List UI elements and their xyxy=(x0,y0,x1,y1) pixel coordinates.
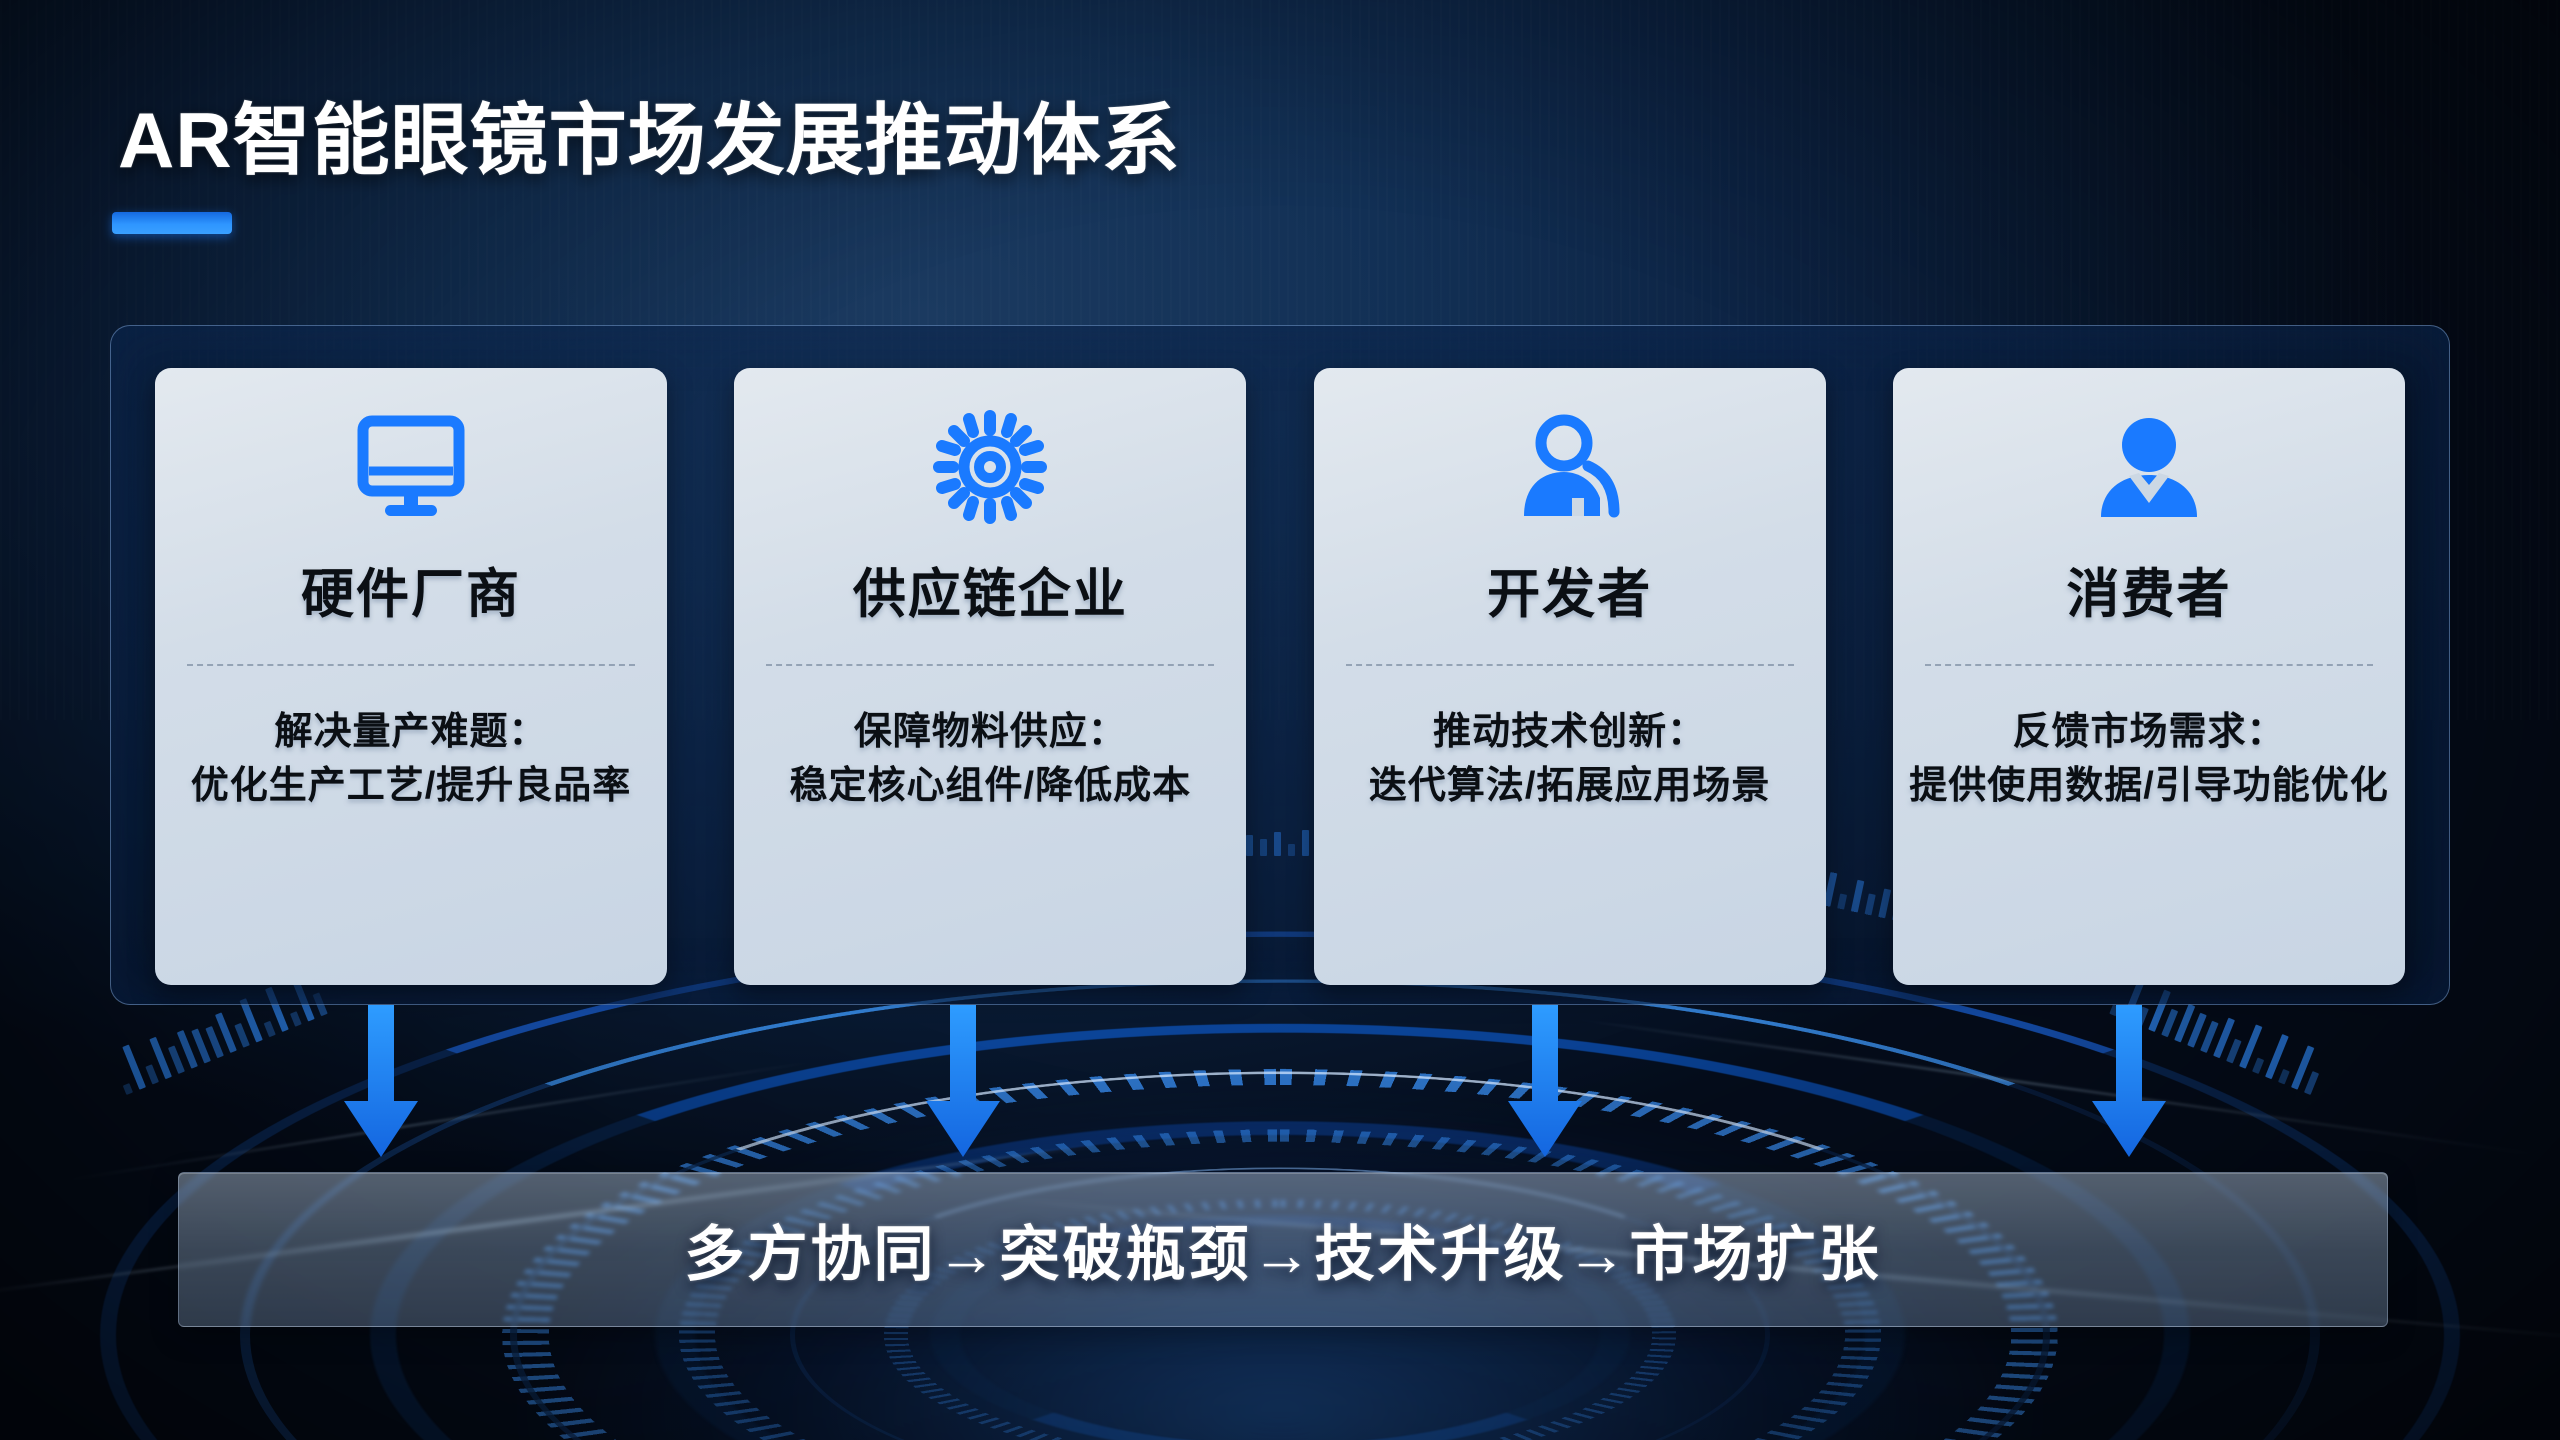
arrow-group xyxy=(155,1005,2405,1160)
card-description: 解决量产难题： 优化生产工艺/提升良品率 xyxy=(191,706,632,814)
card-desc-line2: 提供使用数据/引导功能优化 xyxy=(1909,760,2389,814)
card-consumer[interactable]: 消费者 反馈市场需求： 提供使用数据/引导功能优化 xyxy=(1893,368,2405,985)
card-developer[interactable]: 开发者 推动技术创新： 迭代算法/拓展应用场景 xyxy=(1314,368,1826,985)
page-title: AR智能眼镜市场发展推动体系 xyxy=(118,78,1181,190)
card-title: 硬件厂商 xyxy=(301,552,521,628)
summary-banner-text: 多方协同→突破瓶颈→技术升级→市场扩张 xyxy=(685,1206,1882,1293)
card-divider xyxy=(766,664,1214,666)
card-title: 供应链企业 xyxy=(853,552,1128,628)
card-divider xyxy=(187,664,635,666)
card-divider xyxy=(1346,664,1794,666)
card-desc-line2: 迭代算法/拓展应用场景 xyxy=(1369,760,1771,814)
down-arrow-icon xyxy=(339,1005,423,1160)
card-title: 开发者 xyxy=(1487,552,1652,628)
card-desc-line1: 解决量产难题： xyxy=(274,711,547,753)
down-arrow-icon xyxy=(1503,1005,1587,1160)
card-desc-line1: 反馈市场需求： xyxy=(2012,711,2285,753)
card-description: 反馈市场需求： 提供使用数据/引导功能优化 xyxy=(1909,706,2389,814)
card-description: 保障物料供应： 稳定核心组件/降低成本 xyxy=(790,706,1192,814)
card-title: 消费者 xyxy=(2066,552,2231,628)
cards-row: 硬件厂商 解决量产难题： 优化生产工艺/提升良品率 xyxy=(155,368,2405,985)
card-divider xyxy=(1925,664,2373,666)
card-desc-line1: 保障物料供应： xyxy=(854,711,1127,753)
card-desc-line1: 推动技术创新： xyxy=(1433,711,1706,753)
card-hardware-manufacturer[interactable]: 硬件厂商 解决量产难题： 优化生产工艺/提升良品率 xyxy=(155,368,667,985)
card-description: 推动技术创新： 迭代算法/拓展应用场景 xyxy=(1369,706,1771,814)
card-supply-chain[interactable]: 供应链企业 保障物料供应： 稳定核心组件/降低成本 xyxy=(734,368,1246,985)
summary-banner: 多方协同→突破瓶颈→技术升级→市场扩张 xyxy=(178,1172,2388,1327)
developer-person-icon xyxy=(1514,408,1626,526)
consumer-person-icon xyxy=(2093,408,2205,526)
card-desc-line2: 优化生产工艺/提升良品率 xyxy=(191,760,632,814)
gear-sun-icon xyxy=(933,408,1047,526)
down-arrow-icon xyxy=(2087,1005,2171,1160)
down-arrow-icon xyxy=(921,1005,1005,1160)
monitor-icon xyxy=(355,408,467,526)
slide-content: AR智能眼镜市场发展推动体系 硬件厂商 解决量产难题： 优化生产工艺/提升良品率 xyxy=(0,0,2560,1440)
title-accent-bar xyxy=(112,212,232,234)
card-desc-line2: 稳定核心组件/降低成本 xyxy=(790,760,1192,814)
